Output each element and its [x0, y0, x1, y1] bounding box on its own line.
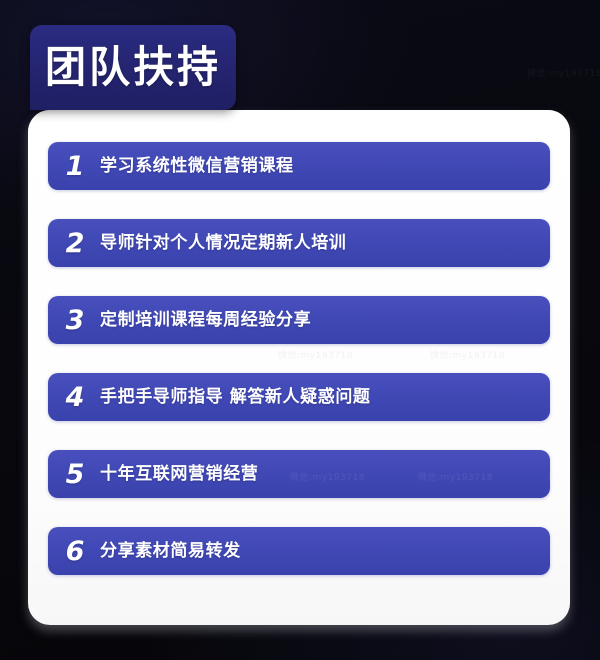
list-item-label: 手把手导师指导 解答新人疑惑问题 — [98, 389, 371, 406]
list-item[interactable]: 6 分享素材简易转发 — [48, 527, 550, 575]
list-item-number: 5 — [48, 461, 98, 488]
list-item-number: 4 — [48, 384, 98, 411]
list-item-number: 6 — [48, 538, 98, 565]
content-card: 1 学习系统性微信营销课程 2 导师针对个人情况定期新人培训 3 定制培训课程每… — [28, 110, 570, 625]
list-item-number: 2 — [48, 230, 98, 257]
list-item[interactable]: 5 十年互联网营销经营 — [48, 450, 550, 498]
page-title: 团队扶持 — [45, 46, 221, 89]
list-item-label: 学习系统性微信营销课程 — [98, 158, 294, 175]
feature-list: 1 学习系统性微信营销课程 2 导师针对个人情况定期新人培训 3 定制培训课程每… — [48, 142, 550, 575]
list-item-number: 3 — [48, 307, 98, 334]
title-badge: 团队扶持 — [30, 25, 236, 110]
list-item[interactable]: 1 学习系统性微信营销课程 — [48, 142, 550, 190]
list-item-label: 定制培训课程每周经验分享 — [98, 312, 311, 329]
watermark-text: 微信:my193718 — [527, 66, 600, 79]
list-item-number: 1 — [48, 153, 98, 180]
list-item-label: 分享素材简易转发 — [98, 543, 241, 560]
list-item-label: 导师针对个人情况定期新人培训 — [98, 235, 346, 252]
list-item[interactable]: 4 手把手导师指导 解答新人疑惑问题 — [48, 373, 550, 421]
poster-root: 微信:my193718微信:my193718微信:my193718微信:my19… — [0, 0, 600, 660]
list-item[interactable]: 2 导师针对个人情况定期新人培训 — [48, 219, 550, 267]
list-item-label: 十年互联网营销经营 — [98, 466, 258, 483]
list-item[interactable]: 3 定制培训课程每周经验分享 — [48, 296, 550, 344]
